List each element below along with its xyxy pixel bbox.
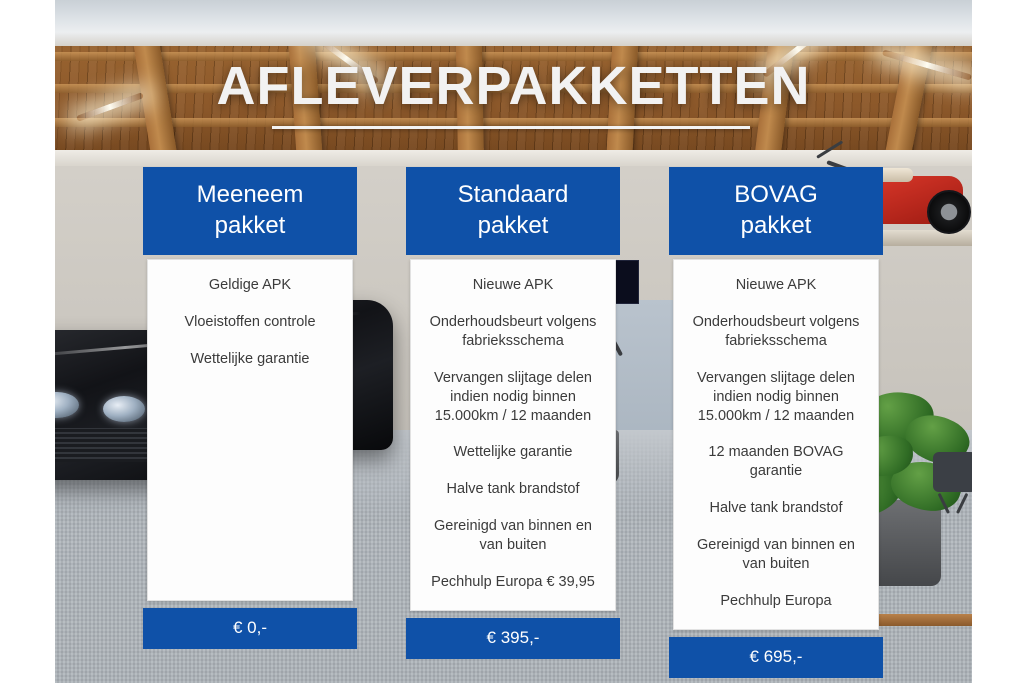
- package-feature: Pechhulp Europa: [684, 592, 868, 611]
- package-title-line1: Standaard: [412, 179, 614, 210]
- car-headlight: [103, 396, 145, 422]
- slide-root: elf AFLEVERPAKKETTEN: [0, 0, 1024, 683]
- package-card-meeneem[interactable]: Meeneem pakket Geldige APK Vloeistoffen …: [143, 167, 357, 649]
- package-feature: Onderhoudsbeurt volgens fabrieksschema: [684, 313, 868, 351]
- package-feature: Pechhulp Europa € 39,95: [421, 573, 605, 592]
- package-feature-list: Geldige APK Vloeistoffen controle Wettel…: [147, 259, 353, 601]
- package-title-line1: BOVAG: [675, 179, 877, 210]
- package-feature: Wettelijke garantie: [421, 443, 605, 462]
- package-feature: Halve tank brandstof: [421, 480, 605, 499]
- package-card-bovag[interactable]: BOVAG pakket Nieuwe APK Onderhoudsbeurt …: [669, 167, 883, 678]
- package-feature-list: Nieuwe APK Onderhoudsbeurt volgens fabri…: [410, 259, 616, 610]
- package-feature: Gereinigd van binnen en van buiten: [684, 536, 868, 574]
- lounge-chair: [933, 452, 972, 492]
- package-feature: Nieuwe APK: [421, 276, 605, 295]
- package-price[interactable]: € 0,-: [143, 608, 357, 649]
- package-card-header: Meeneem pakket: [143, 167, 357, 255]
- package-card-header: BOVAG pakket: [669, 167, 883, 255]
- package-feature: Vervangen slijtage delen indien nodig bi…: [684, 369, 868, 426]
- package-title-line1: Meeneem: [149, 179, 351, 210]
- package-cards-row: Meeneem pakket Geldige APK Vloeistoffen …: [143, 167, 883, 654]
- package-title-line2: pakket: [149, 210, 351, 241]
- package-card-standaard[interactable]: Standaard pakket Nieuwe APK Onderhoudsbe…: [406, 167, 620, 659]
- package-feature: Vervangen slijtage delen indien nodig bi…: [421, 369, 605, 426]
- package-feature: Wettelijke garantie: [158, 350, 342, 369]
- package-title-line2: pakket: [675, 210, 877, 241]
- package-feature-list: Nieuwe APK Onderhoudsbeurt volgens fabri…: [673, 259, 879, 629]
- package-card-header: Standaard pakket: [406, 167, 620, 255]
- package-price[interactable]: € 395,-: [406, 618, 620, 659]
- package-title-line2: pakket: [412, 210, 614, 241]
- package-feature: Nieuwe APK: [684, 276, 868, 295]
- package-feature: Gereinigd van binnen en van buiten: [421, 517, 605, 555]
- title-underline-rule: [272, 126, 750, 129]
- package-feature: 12 maanden BOVAG garantie: [684, 443, 868, 481]
- ceiling-soffit: [55, 0, 972, 46]
- package-feature: Onderhoudsbeurt volgens fabrieksschema: [421, 313, 605, 351]
- package-feature: Vloeistoffen controle: [158, 313, 342, 332]
- package-feature: Halve tank brandstof: [684, 499, 868, 518]
- moped-rear-wheel: [927, 190, 971, 234]
- package-price[interactable]: € 695,-: [669, 637, 883, 678]
- page-title: AFLEVERPAKKETTEN: [55, 58, 972, 115]
- package-feature: Geldige APK: [158, 276, 342, 295]
